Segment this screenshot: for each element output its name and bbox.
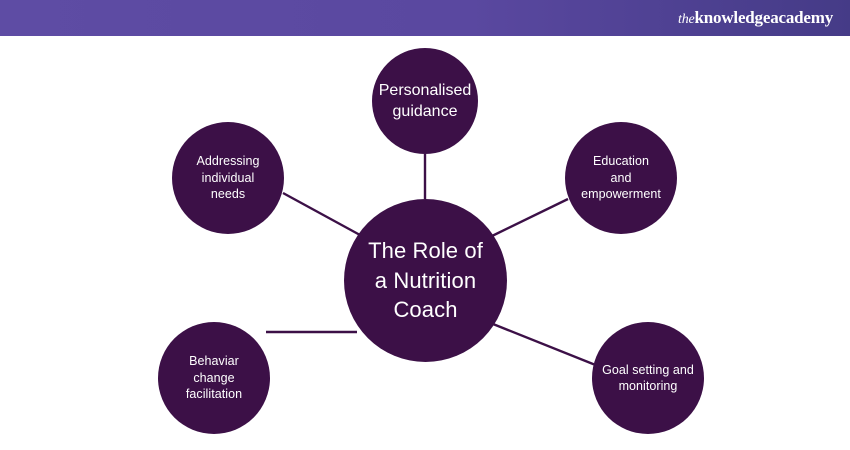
node-center-label: The Role of a Nutrition Coach [368, 236, 483, 326]
connector-center-to-goal-setting-and-monitoring [493, 324, 598, 366]
connector-center-to-addressing-individual-needs [283, 193, 360, 235]
node-goal-setting-and-monitoring-label: Goal setting and monitoring [602, 362, 694, 395]
connector-center-to-education-and-empowerment [492, 199, 568, 236]
brand-academy: academy [770, 8, 833, 27]
node-behaviar-change-facilitation-label: Behaviar change facilitation [186, 353, 242, 403]
header-bar: theknowledgeacademy [0, 0, 850, 36]
node-personalised-guidance[interactable]: Personalised guidance [372, 48, 478, 154]
node-behaviar-change-facilitation[interactable]: Behaviar change facilitation [158, 322, 270, 434]
brand-logo: theknowledgeacademy [678, 8, 833, 28]
node-education-and-empowerment-label: Education and empowerment [581, 153, 661, 203]
node-center-the-role-of-a-nutrition-coach[interactable]: The Role of a Nutrition Coach [344, 199, 507, 362]
node-addressing-individual-needs[interactable]: Addressing individual needs [172, 122, 284, 234]
node-education-and-empowerment[interactable]: Education and empowerment [565, 122, 677, 234]
brand-the: the [678, 12, 695, 27]
node-personalised-guidance-label: Personalised guidance [379, 80, 472, 122]
mind-map-diagram: The Role of a Nutrition Coach Personalis… [0, 36, 850, 450]
infographic-page: theknowledgeacademy The Role of a Nutrit… [0, 0, 850, 450]
node-goal-setting-and-monitoring[interactable]: Goal setting and monitoring [592, 322, 704, 434]
brand-knowledge: knowledge [695, 8, 771, 27]
node-addressing-individual-needs-label: Addressing individual needs [196, 153, 259, 203]
